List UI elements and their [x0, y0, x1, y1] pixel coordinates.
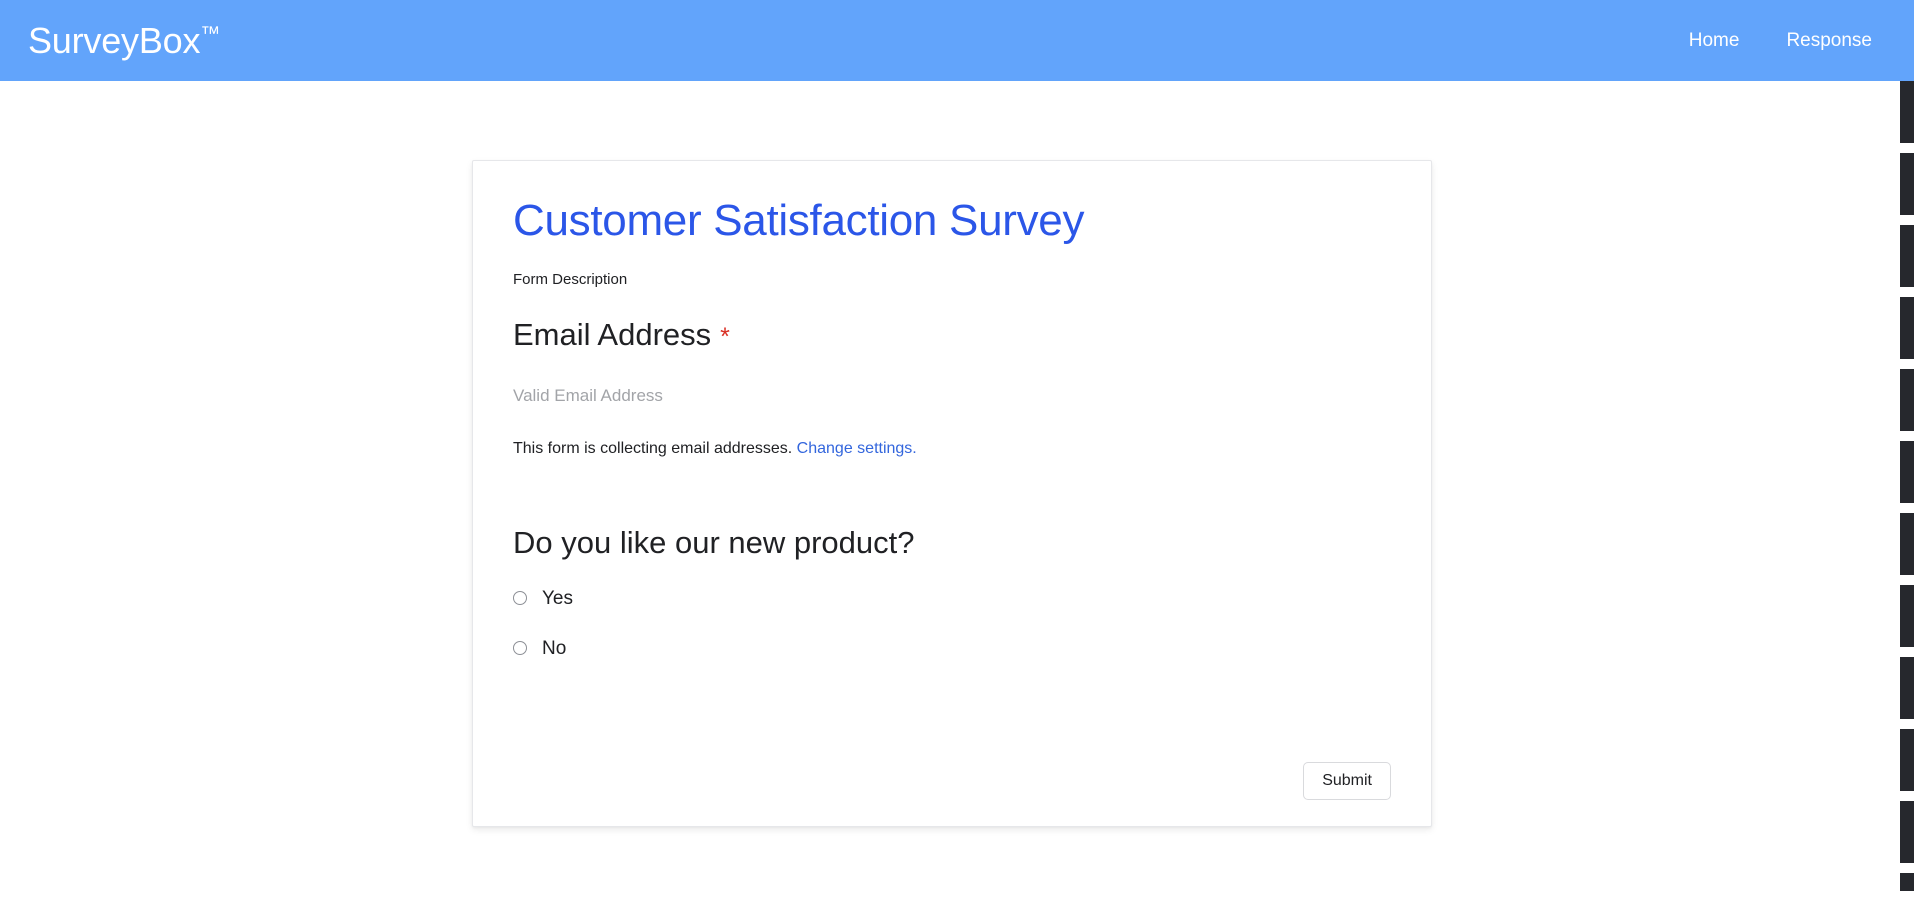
trademark-symbol: ™: [200, 24, 220, 44]
email-collection-note: This form is collecting email addresses.…: [513, 440, 1391, 458]
email-label-text: Email Address: [513, 316, 711, 353]
radio-option-yes[interactable]: Yes: [513, 589, 1391, 608]
page-title: Customer Satisfaction Survey: [513, 197, 1391, 245]
radio-unchecked-icon[interactable]: [513, 641, 527, 655]
submit-button[interactable]: Submit: [1303, 762, 1391, 800]
radio-unchecked-icon[interactable]: [513, 591, 527, 605]
nav-links: Home Response: [1689, 30, 1872, 52]
nav-link-home[interactable]: Home: [1689, 30, 1740, 52]
radio-group: Yes No: [513, 589, 1391, 658]
survey-form-card: Customer Satisfaction Survey Form Descri…: [472, 160, 1432, 827]
top-navbar: SurveyBox™ Home Response: [0, 0, 1914, 81]
radio-option-no-label: No: [542, 639, 566, 658]
form-description: Form Description: [513, 271, 1391, 288]
question-title: Do you like our new product?: [513, 524, 1391, 561]
required-asterisk-icon: *: [720, 325, 730, 350]
change-settings-link[interactable]: Change settings.: [797, 440, 917, 457]
submit-row: Submit: [1303, 762, 1391, 800]
page-root: SurveyBox™ Home Response Customer Satisf…: [0, 0, 1914, 913]
radio-option-yes-label: Yes: [542, 589, 573, 608]
brand-logo[interactable]: SurveyBox™: [28, 23, 220, 59]
nav-link-response[interactable]: Response: [1786, 30, 1872, 52]
brand-name: SurveyBox: [28, 23, 200, 59]
email-input[interactable]: [513, 384, 973, 408]
right-edge-scrollbar[interactable]: [1900, 81, 1914, 891]
radio-option-no[interactable]: No: [513, 639, 1391, 658]
email-field-label: Email Address *: [513, 316, 1391, 353]
email-collection-text: This form is collecting email addresses.: [513, 440, 792, 457]
